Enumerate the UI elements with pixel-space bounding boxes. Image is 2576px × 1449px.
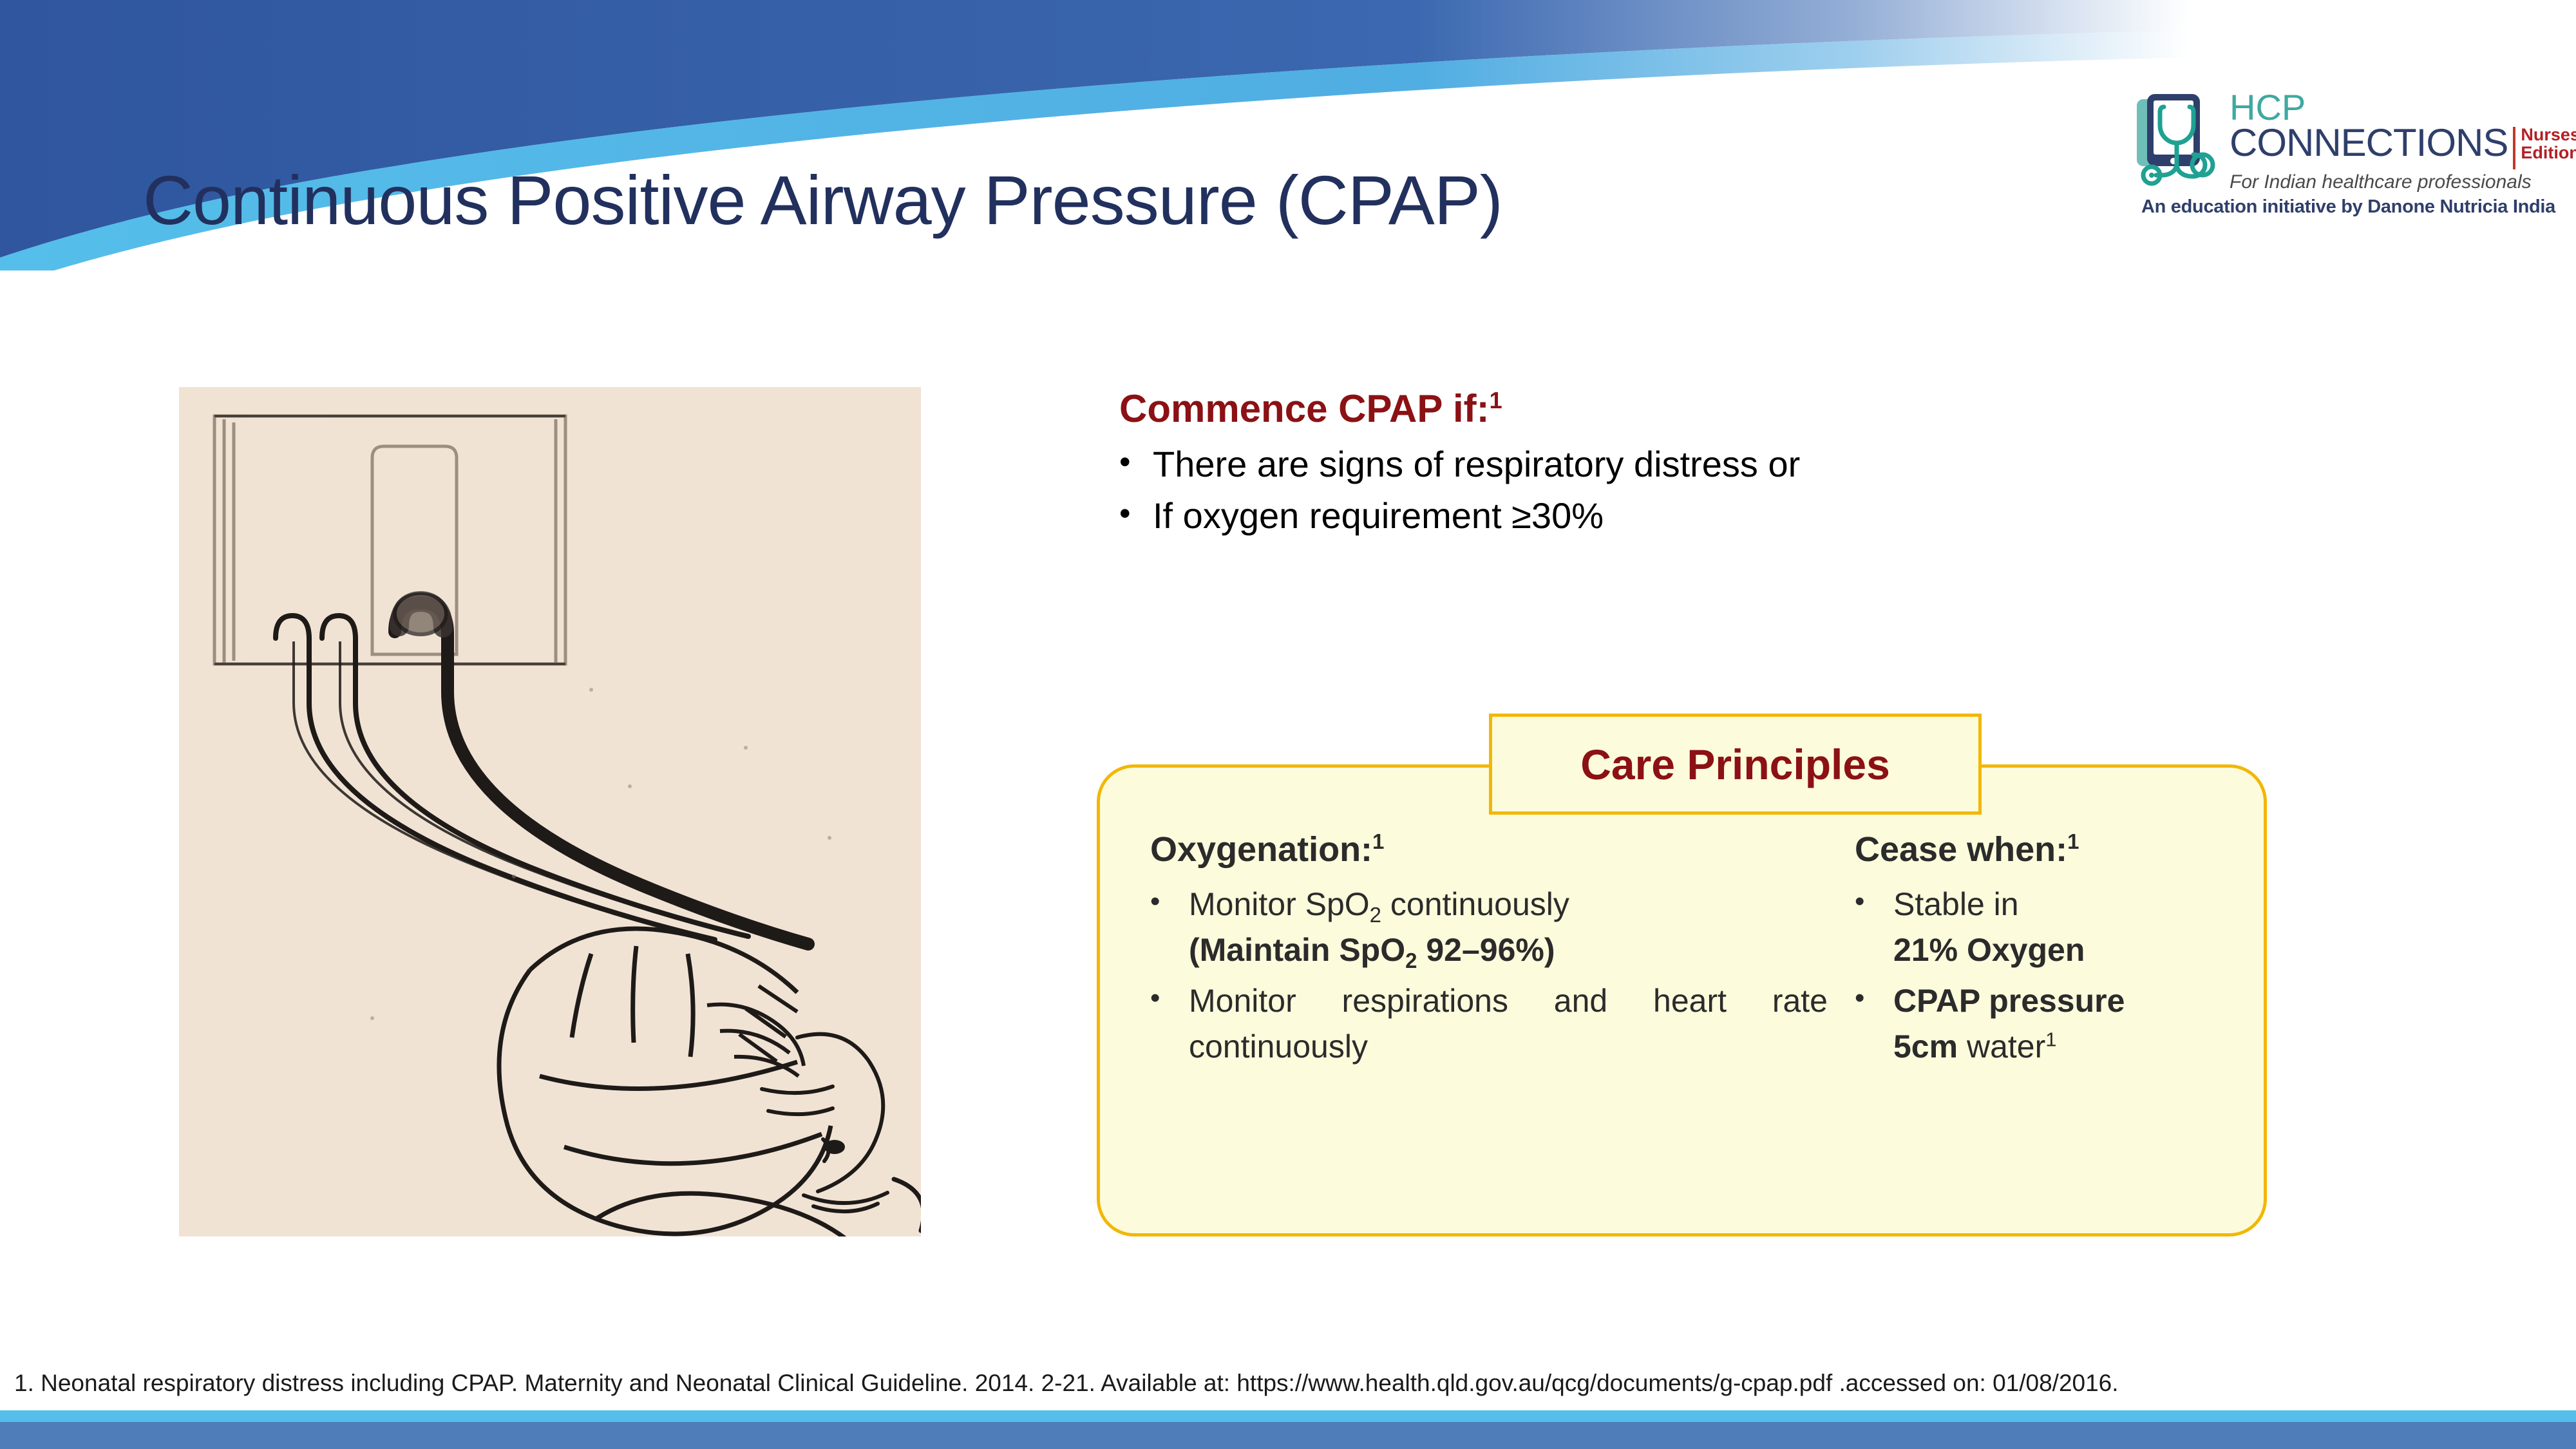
spo2-subscript: 2 (1370, 903, 1381, 927)
logo-edition-line1: Nurses' (2521, 126, 2576, 144)
oxygenation-heading-text: Oxygenation: (1150, 830, 1372, 869)
cease-when-heading-superscript: 1 (2067, 829, 2079, 853)
cpap-pressure-unit: water (1958, 1028, 2045, 1065)
commence-cpap-block: Commence CPAP if:1 • There are signs of … (1119, 386, 2214, 546)
commence-heading-superscript: 1 (1490, 387, 1502, 413)
oxygenation-bullet-item: • Monitor SpO2 continuously (Maintain Sp… (1150, 882, 1828, 973)
stable-in-text: Stable in (1893, 886, 2019, 922)
footer-bar-light (0, 1410, 2576, 1422)
cease-when-column: Cease when:1 • Stable in 21% Oxygen • CP… (1828, 831, 2267, 1230)
cease-when-heading-text: Cease when: (1855, 830, 2067, 869)
logo-initiative: An education initiative by Danone Nutric… (2130, 196, 2555, 218)
logo-brand-top: HCP (2230, 90, 2576, 124)
cease-when-bullet-text: CPAP pressure 5cm water1 (1893, 978, 2125, 1070)
tablet-stethoscope-icon (2130, 91, 2227, 191)
commence-heading: Commence CPAP if:1 (1119, 386, 2214, 431)
oxygenation-heading: Oxygenation:1 (1150, 831, 1828, 869)
oxygenation-column: Oxygenation:1 • Monitor SpO2 continuousl… (1097, 831, 1828, 1230)
commence-bullet-text: There are signs of respiratory distress … (1153, 442, 1800, 486)
oxygenation-bullet-item: • Monitor respirations and heart rate co… (1150, 978, 1828, 1070)
maintain-spo2-pre: (Maintain SpO (1189, 932, 1405, 968)
care-principles-columns: Oxygenation:1 • Monitor SpO2 continuousl… (1097, 831, 2267, 1230)
page-title: Continuous Positive Airway Pressure (CPA… (143, 160, 1502, 240)
logo-edition: Nurses' Edition (2521, 124, 2576, 162)
slide-root: HCP CONNECTIONS Nurses' Edition For Indi… (0, 0, 2576, 1449)
reference-footnote: 1. Neonatal respiratory distress includi… (14, 1370, 2119, 1397)
cpap-pressure-superscript: 1 (2045, 1028, 2056, 1051)
spo2-monitor-pre: Monitor SpO (1189, 886, 1370, 922)
cpap-infant-illustration (179, 387, 921, 1236)
bullet-icon: • (1855, 882, 1893, 922)
oxygen-percent-text: 21% Oxygen (1893, 932, 2085, 968)
care-principles-title: Care Principles (1580, 740, 1890, 789)
oxygenation-bullet-text: Monitor SpO2 continuously (Maintain SpO2… (1189, 882, 1569, 973)
cease-when-bullet-item: • Stable in 21% Oxygen (1855, 882, 2267, 973)
bullet-icon: • (1855, 978, 1893, 1018)
commence-heading-text: Commence CPAP if: (1119, 387, 1490, 430)
logo-brand-main: CONNECTIONS (2230, 124, 2508, 161)
maintain-spo2-subscript: 2 (1405, 949, 1417, 972)
spo2-monitor-post: continuously (1381, 886, 1569, 922)
commence-bullet-item: • If oxygen requirement ≥30% (1119, 494, 2214, 538)
care-principles-title-box: Care Principles (1489, 714, 1982, 815)
cease-when-bullet-item: • CPAP pressure 5cm water1 (1855, 978, 2267, 1070)
logo-divider (2513, 127, 2515, 169)
bullet-icon: • (1119, 442, 1153, 482)
bullet-icon: • (1119, 494, 1153, 533)
cease-when-heading: Cease when:1 (1855, 831, 2267, 869)
bullet-icon: • (1150, 882, 1189, 922)
cpap-pressure-value: 5cm (1893, 1028, 1958, 1065)
logo-edition-line2: Edition (2521, 144, 2576, 162)
commence-bullet-item: • There are signs of respiratory distres… (1119, 442, 2214, 486)
cease-when-bullet-text: Stable in 21% Oxygen (1893, 882, 2085, 973)
cpap-pressure-label: CPAP pressure (1893, 983, 2125, 1019)
maintain-spo2-range: 92–96%) (1417, 932, 1555, 968)
bullet-icon: • (1150, 978, 1189, 1018)
cpap-illustration-svg (179, 387, 921, 1236)
oxygenation-bullet-text: Monitor respirations and heart rate cont… (1189, 978, 1828, 1070)
hcp-connections-logo: HCP CONNECTIONS Nurses' Edition For Indi… (2130, 90, 2555, 213)
oxygenation-heading-superscript: 1 (1372, 829, 1384, 853)
logo-tagline: For Indian healthcare professionals (2230, 171, 2576, 193)
commence-bullet-text: If oxygen requirement ≥30% (1153, 494, 1604, 538)
footer-bar-dark (0, 1422, 2576, 1449)
